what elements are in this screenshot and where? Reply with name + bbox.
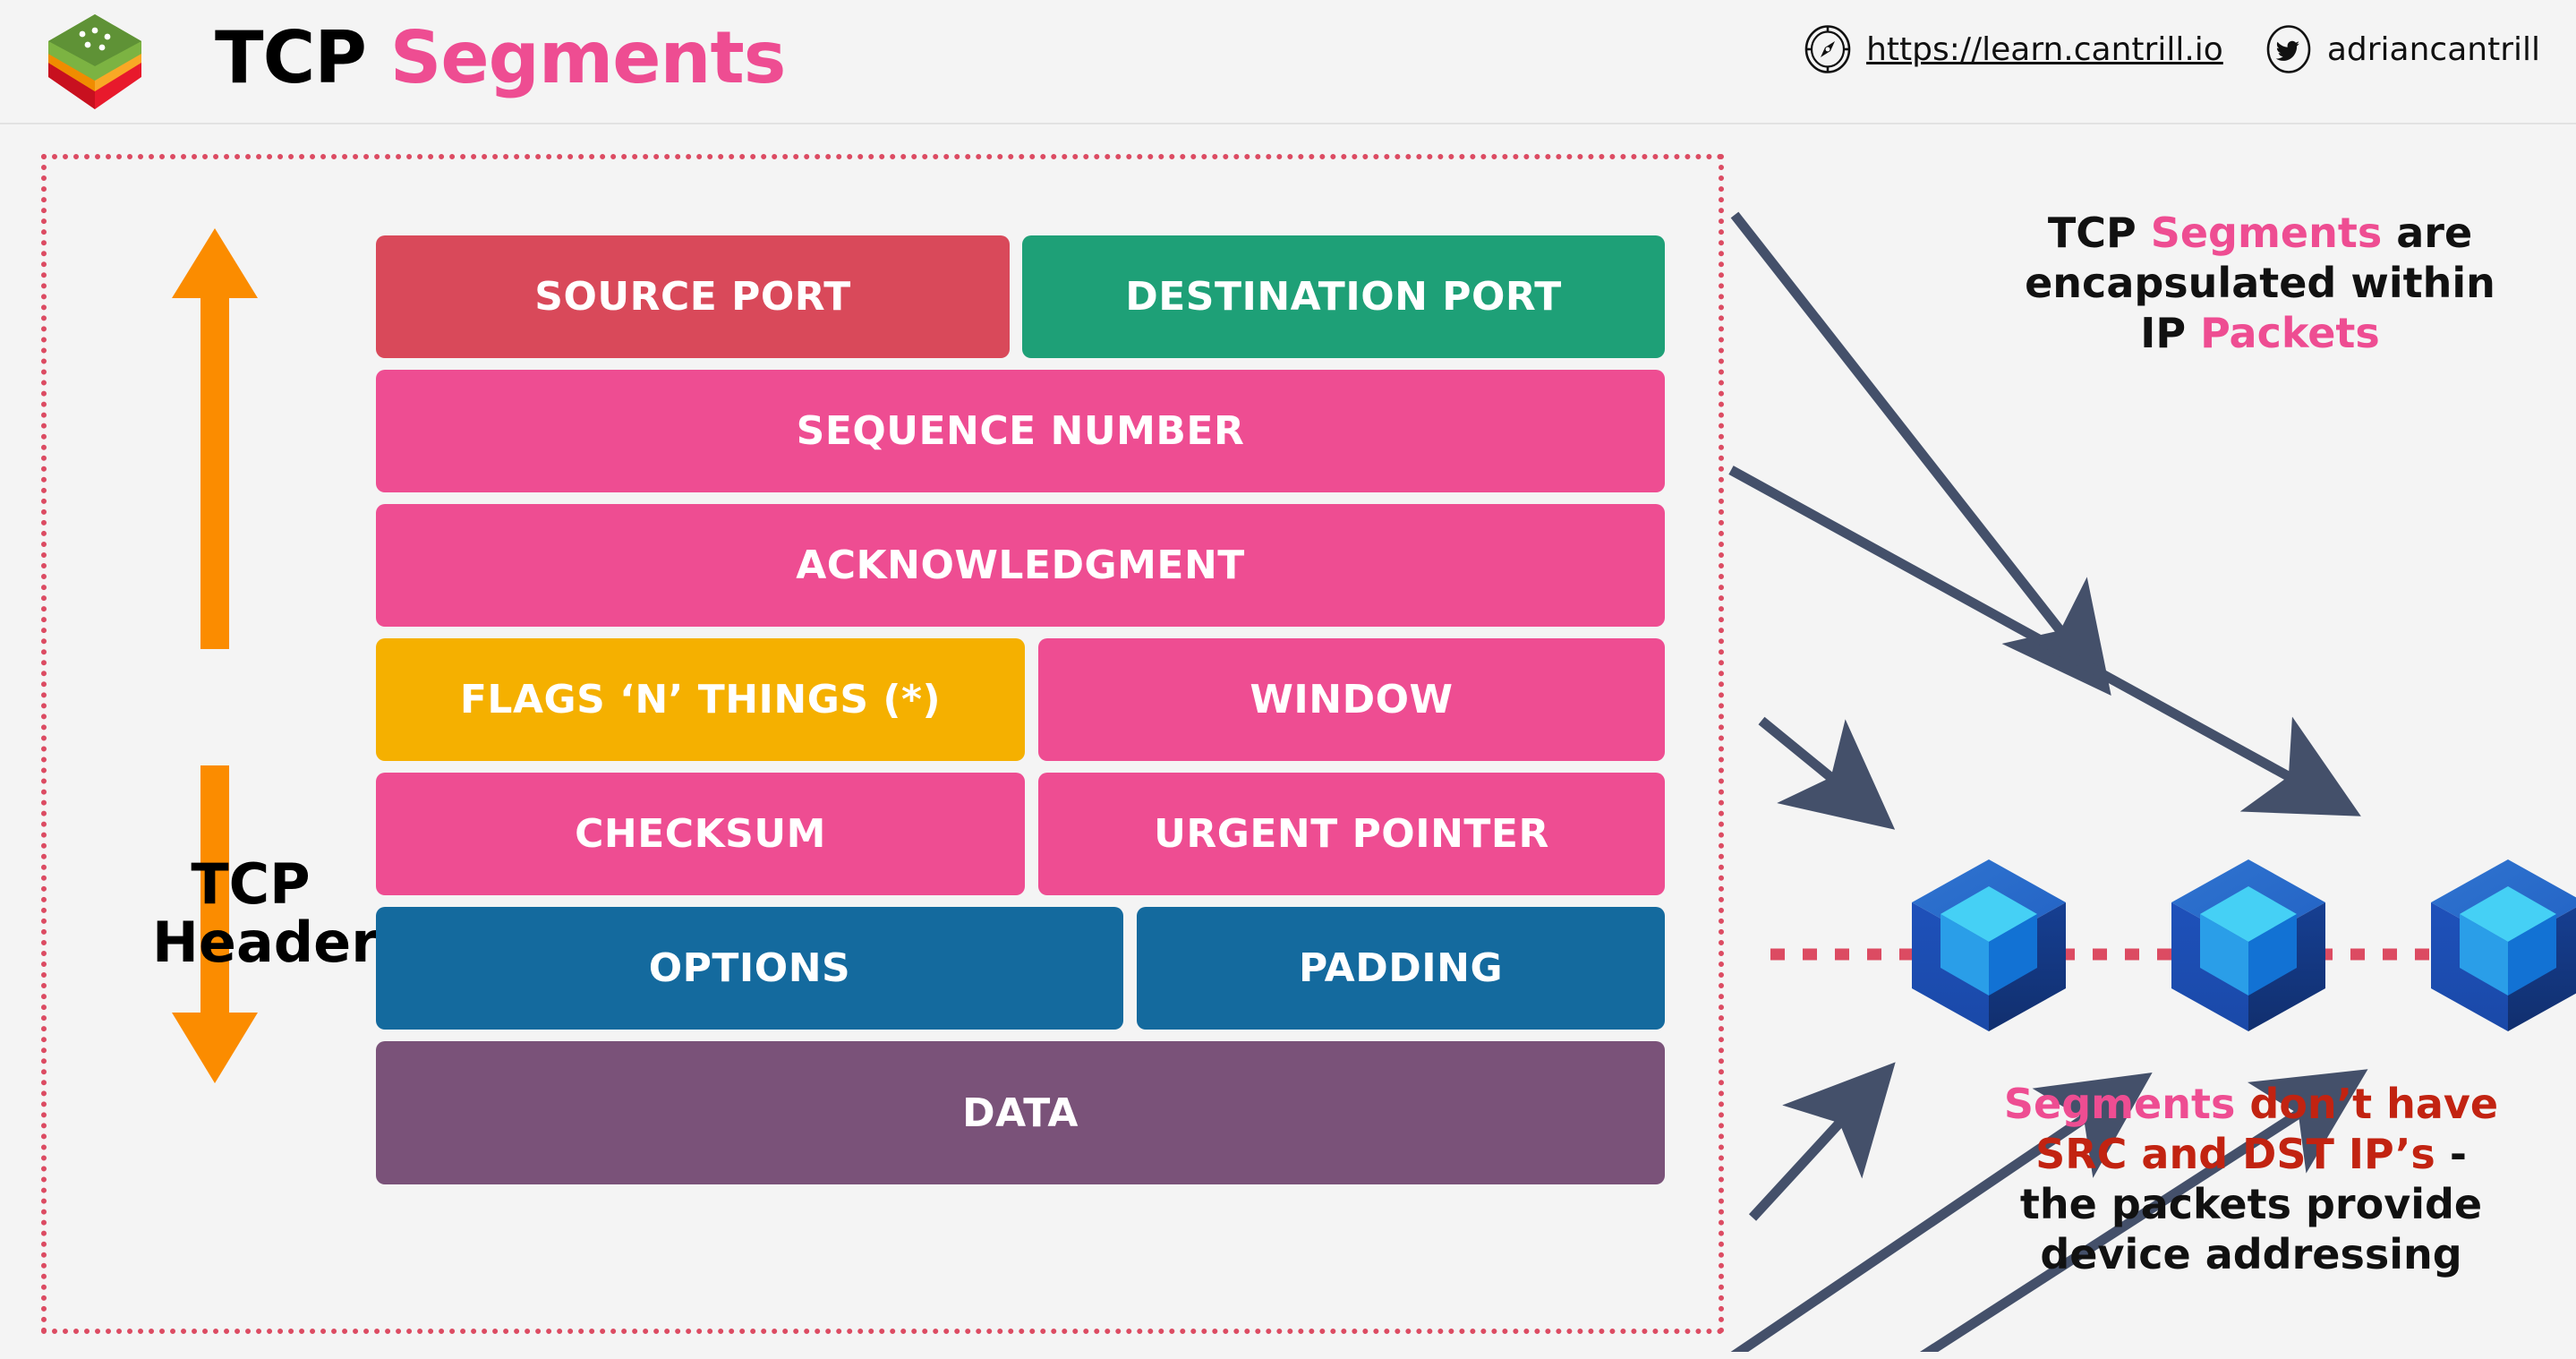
- tcp-field-urgent-pointer: URGENT POINTER: [1038, 773, 1665, 895]
- encapsulation-note: TCP Segments are encapsulated within IP …: [2009, 208, 2511, 358]
- page-header: TCP Segments https://learn.ca: [0, 0, 2576, 124]
- packet-cube-icon: [2171, 859, 2325, 1031]
- tcp-field-destination-port: DESTINATION PORT: [1022, 235, 1665, 358]
- tcp-field-row: SEQUENCE NUMBER: [376, 370, 1665, 492]
- note-top-seg1: TCP: [2048, 209, 2151, 257]
- website-link-group[interactable]: https://learn.cantrill.io: [1804, 25, 2223, 73]
- tcp-field-padding: PADDING: [1137, 907, 1665, 1030]
- arrow-up-icon: [172, 228, 258, 649]
- page-title-part1: TCP: [215, 16, 390, 99]
- note-top-seg2: Segments: [2151, 209, 2383, 257]
- tcp-header-label-line2: Header: [152, 913, 349, 971]
- tcp-header-extent-indicator: TCP Header: [152, 228, 349, 1088]
- note-bottom-seg1: Segments: [2004, 1080, 2236, 1128]
- tcp-header-label: TCP Header: [152, 855, 349, 971]
- tcp-field-sequence-number: SEQUENCE NUMBER: [376, 370, 1665, 492]
- tcp-header-label-line1: TCP: [152, 855, 349, 913]
- note-top-seg4: Packets: [2200, 309, 2380, 357]
- tcp-field-acknowledgment: ACKNOWLEDGMENT: [376, 504, 1665, 627]
- header-links: https://learn.cantrill.io adriancantrill: [1804, 25, 2540, 73]
- tcp-field-row: CHECKSUMURGENT POINTER: [376, 773, 1665, 895]
- tcp-header-field-grid: SOURCE PORTDESTINATION PORTSEQUENCE NUMB…: [376, 235, 1665, 1196]
- addressing-note: Segments don’t have SRC and DST IP’s - t…: [2000, 1079, 2502, 1279]
- twitter-bird-icon: [2265, 25, 2313, 73]
- compass-icon: [1804, 25, 1852, 73]
- tcp-field-row: DATA: [376, 1041, 1665, 1184]
- packet-cube-icon: [1912, 859, 2066, 1031]
- packet-cube-icon: [2431, 859, 2576, 1031]
- tcp-field-checksum: CHECKSUM: [376, 773, 1025, 895]
- tcp-field-window: WINDOW: [1038, 638, 1665, 761]
- tcp-field-row: SOURCE PORTDESTINATION PORT: [376, 235, 1665, 358]
- slide-root: TCP Segments https://learn.ca: [0, 0, 2576, 1359]
- tcp-field-row: ACKNOWLEDGMENT: [376, 504, 1665, 627]
- page-title: TCP Segments: [215, 16, 785, 99]
- tcp-field-row: OPTIONSPADDING: [376, 907, 1665, 1030]
- tcp-field-flags-n-things: FLAGS ‘N’ THINGS (*): [376, 638, 1025, 761]
- twitter-link-group[interactable]: adriancantrill: [2265, 25, 2540, 73]
- tcp-field-source-port: SOURCE PORT: [376, 235, 1010, 358]
- tcp-field-options: OPTIONS: [376, 907, 1123, 1030]
- twitter-handle[interactable]: adriancantrill: [2327, 31, 2540, 68]
- tcp-field-row: FLAGS ‘N’ THINGS (*)WINDOW: [376, 638, 1665, 761]
- website-url[interactable]: https://learn.cantrill.io: [1866, 31, 2223, 68]
- tcp-field-data: DATA: [376, 1041, 1665, 1184]
- page-title-part2: Segments: [390, 16, 786, 99]
- layered-cube-logo: [41, 11, 149, 115]
